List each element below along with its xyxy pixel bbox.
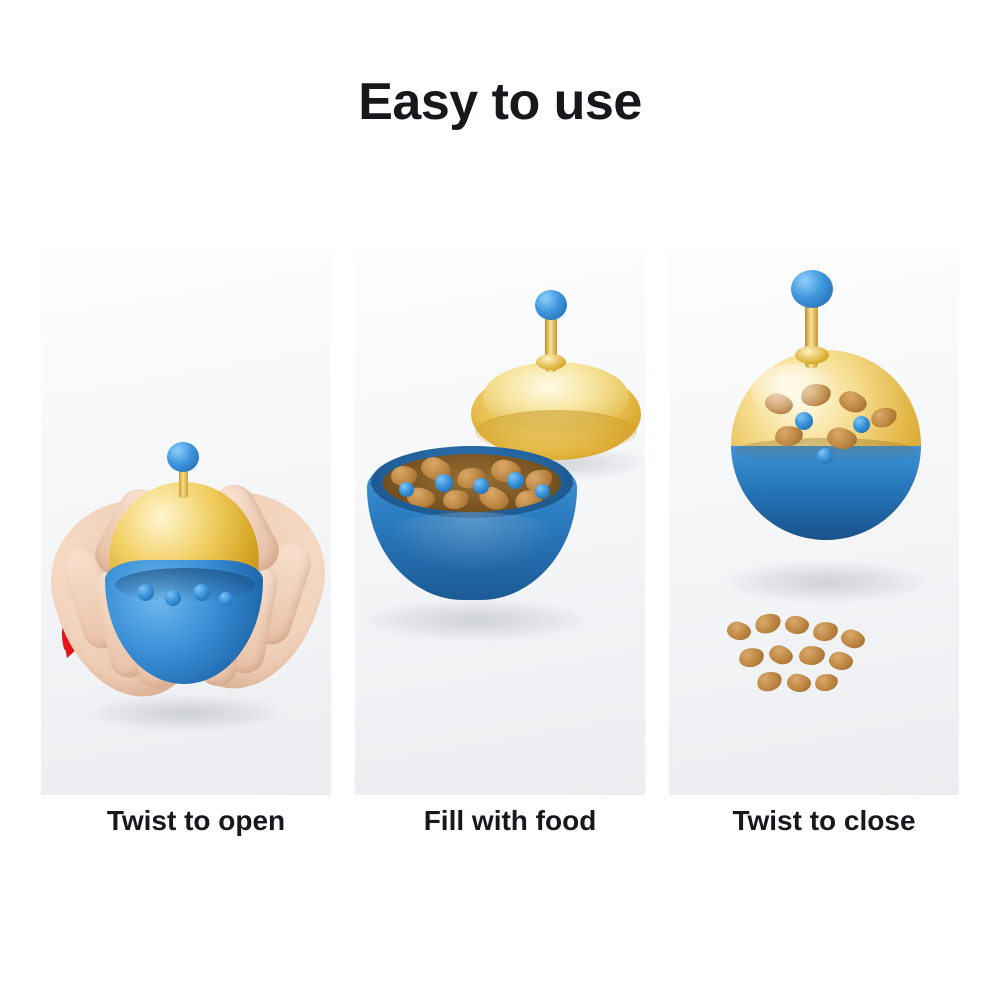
knob-ball-icon [791, 270, 833, 308]
caption-twist-to-close: Twist to close [679, 805, 969, 837]
kibble [737, 646, 765, 670]
knob-collar [795, 346, 829, 364]
kibble [786, 672, 812, 693]
ball-shadow [727, 562, 927, 602]
blue-treat-bit [435, 474, 453, 492]
bowl-interior [383, 454, 561, 512]
ball-highlight [751, 364, 835, 418]
kibble [839, 627, 867, 651]
blue-treat-bit [219, 592, 233, 606]
bowl-highlight [369, 512, 575, 582]
panel-twist-to-open [41, 250, 331, 795]
kibble [869, 405, 899, 430]
blue-treat-bit [137, 584, 154, 601]
page-title: Easy to use [0, 72, 1000, 132]
kibble [753, 610, 784, 636]
caption-twist-to-open: Twist to open [51, 805, 341, 837]
kibble [814, 672, 840, 693]
bowl-shadow [365, 600, 585, 640]
blue-treat-bit [535, 484, 550, 499]
blue-treat-bit [399, 482, 414, 497]
blue-treat-bit [853, 416, 870, 433]
kibble [798, 645, 825, 666]
blue-treat-bit [193, 584, 210, 601]
lid-knob-collar [536, 354, 566, 370]
kibble [767, 642, 796, 667]
kibble [755, 669, 784, 694]
kibble [836, 388, 869, 416]
panel-row [0, 250, 1000, 870]
panel-twist-to-close [669, 250, 959, 795]
kibble [828, 650, 855, 672]
blue-treat-bit [473, 478, 489, 494]
blue-treat-bit [165, 590, 181, 606]
ball-seam [115, 568, 255, 602]
kibble [725, 620, 752, 643]
lid-knob-ball-icon [535, 290, 567, 320]
blue-treat-bit [507, 472, 524, 489]
photo-twist-to-open [41, 250, 331, 795]
assembled-treat-ball [731, 350, 921, 540]
blue-treat-bit [817, 448, 833, 464]
caption-fill-with-food: Fill with food [365, 805, 655, 837]
promo-image: Easy to use [0, 0, 1000, 1000]
photo-fill-with-food [355, 250, 645, 795]
kibble [812, 620, 839, 642]
hand-shadow [91, 696, 281, 730]
knob-ball-icon [167, 442, 199, 472]
photo-twist-to-close [669, 250, 959, 795]
panel-fill-with-food [355, 250, 645, 795]
kibble [784, 615, 810, 635]
